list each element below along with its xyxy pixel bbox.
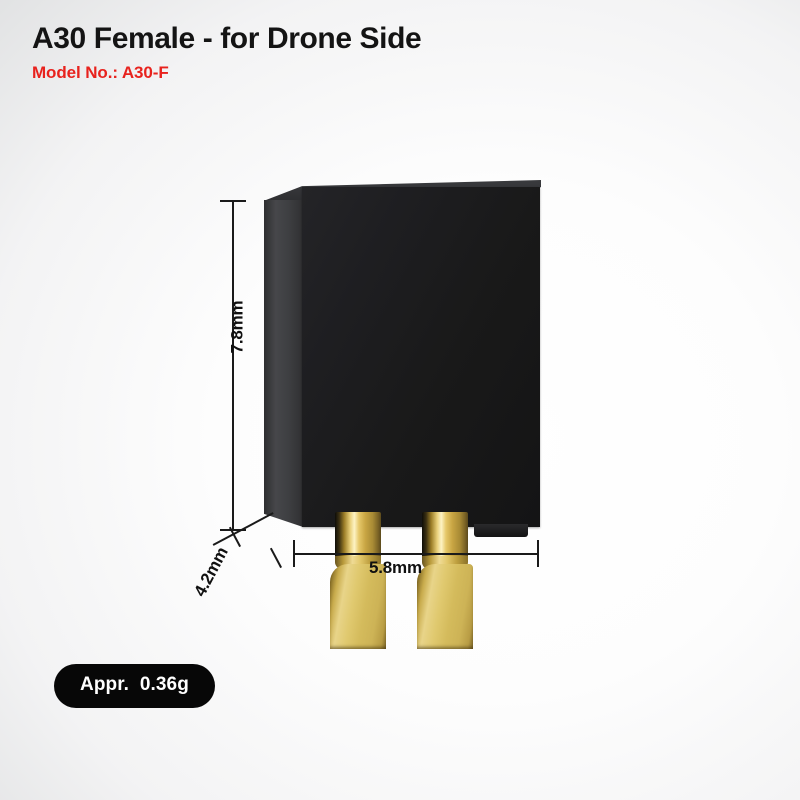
height-dimension-cap-top [220, 200, 246, 202]
width-dimension-cap-left [293, 540, 295, 567]
connector-body-side-face [264, 200, 303, 527]
width-dimension-cap-right [537, 540, 539, 567]
connector-body [264, 180, 542, 528]
height-dimension-label: 7.8mm [227, 301, 247, 354]
pin-blade [417, 564, 473, 649]
connector-bottom-tab [474, 524, 528, 537]
connector-body-front-face [302, 187, 540, 527]
depth-dimension-label: 4.2mm [190, 544, 232, 600]
height-dimension-line [232, 200, 234, 530]
weight-badge: Appr. 0.36g [54, 664, 215, 708]
product-spec-diagram: A30 Female - for Drone Side Model No.: A… [0, 0, 800, 800]
width-dimension-line [293, 553, 539, 555]
width-dimension-label: 5.8mm [369, 558, 422, 578]
depth-dimension-cap-far [270, 548, 282, 568]
